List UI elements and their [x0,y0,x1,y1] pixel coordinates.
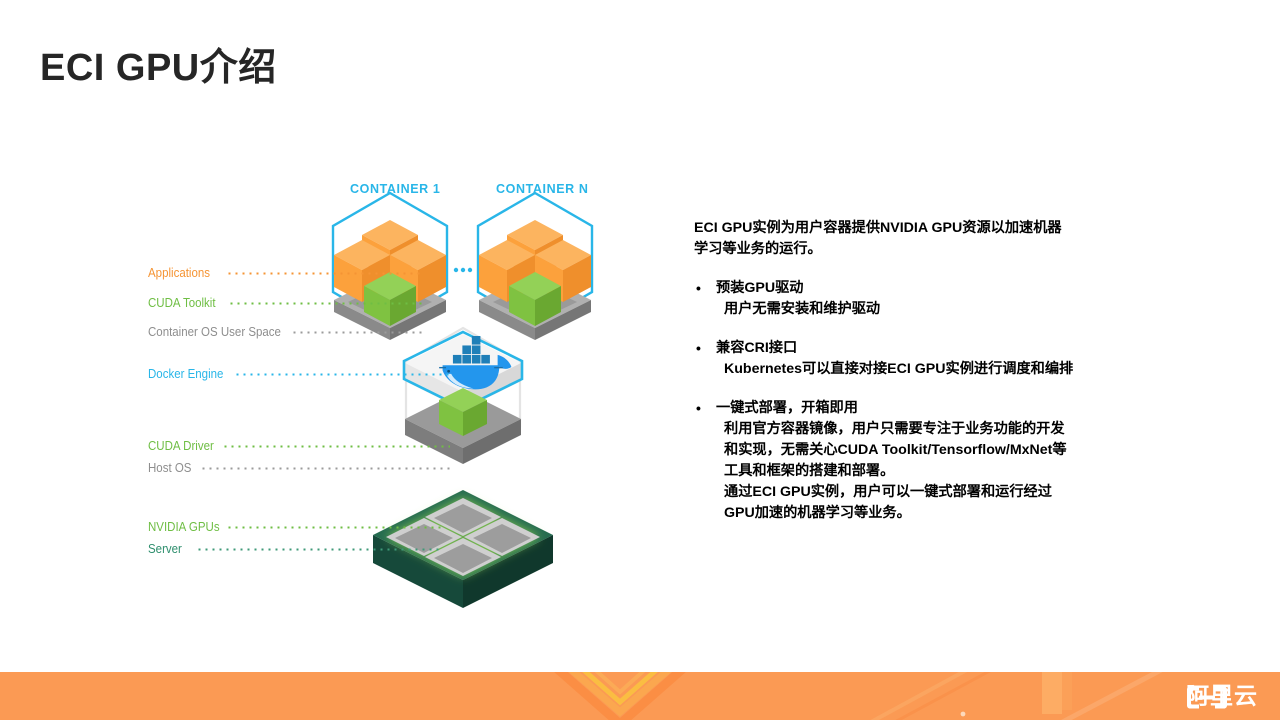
bullet-marker-icon: • [696,278,701,299]
containers-ellipsis-icon [454,268,472,272]
footer-bar: 阿里云 [0,672,1280,720]
bullet-title: 预装GPU驱动 [716,278,1074,299]
alibaba-cloud-brand: 阿里云 [1186,685,1258,708]
bullet-marker-icon: • [696,338,701,359]
bullet-body: 利用官方容器镜像，用户只需要专注于业务功能的开发和实现，无需关心CUDA Too… [716,419,1074,482]
alibaba-cloud-logo-icon [1186,685,1228,711]
page-title: ECI GPU介绍 [40,36,277,91]
bullet-item: • 预装GPU驱动 用户无需安装和维护驱动 [694,278,1074,320]
server-gpu-layer [373,490,553,608]
container-n-contents [479,220,591,340]
bullet-marker-icon: • [696,398,701,419]
footer-chevron-pattern [0,672,1280,720]
host-os-layer [405,388,521,464]
bullet-body-secondary: 通过ECI GPU实例，用户可以一键式部署和运行经过GPU加速的机器学习等业务。 [716,482,1074,524]
container-1-contents [334,220,446,340]
bullet-title: 一键式部署，开箱即用 [716,398,1074,419]
description-panel: ECI GPU实例为用户容器提供NVIDIA GPU资源以加速机器学习等业务的运… [694,218,1074,524]
container-n-caption: CONTAINER N [496,182,588,196]
container-1-caption: CONTAINER 1 [350,182,440,196]
bullet-item: • 一键式部署，开箱即用 利用官方容器镜像，用户只需要专注于业务功能的开发和实现… [694,398,1074,524]
panel-lead-text: ECI GPU实例为用户容器提供NVIDIA GPU资源以加速机器学习等业务的运… [694,218,1074,260]
eci-gpu-architecture-diagram [130,160,650,620]
bullet-title: 兼容CRI接口 [716,338,1074,359]
bullet-body: 用户无需安装和维护驱动 [716,299,1074,320]
bullet-body: Kubernetes可以直接对接ECI GPU实例进行调度和编排 [716,359,1074,380]
bullet-item: • 兼容CRI接口 Kubernetes可以直接对接ECI GPU实例进行调度和… [694,338,1074,380]
